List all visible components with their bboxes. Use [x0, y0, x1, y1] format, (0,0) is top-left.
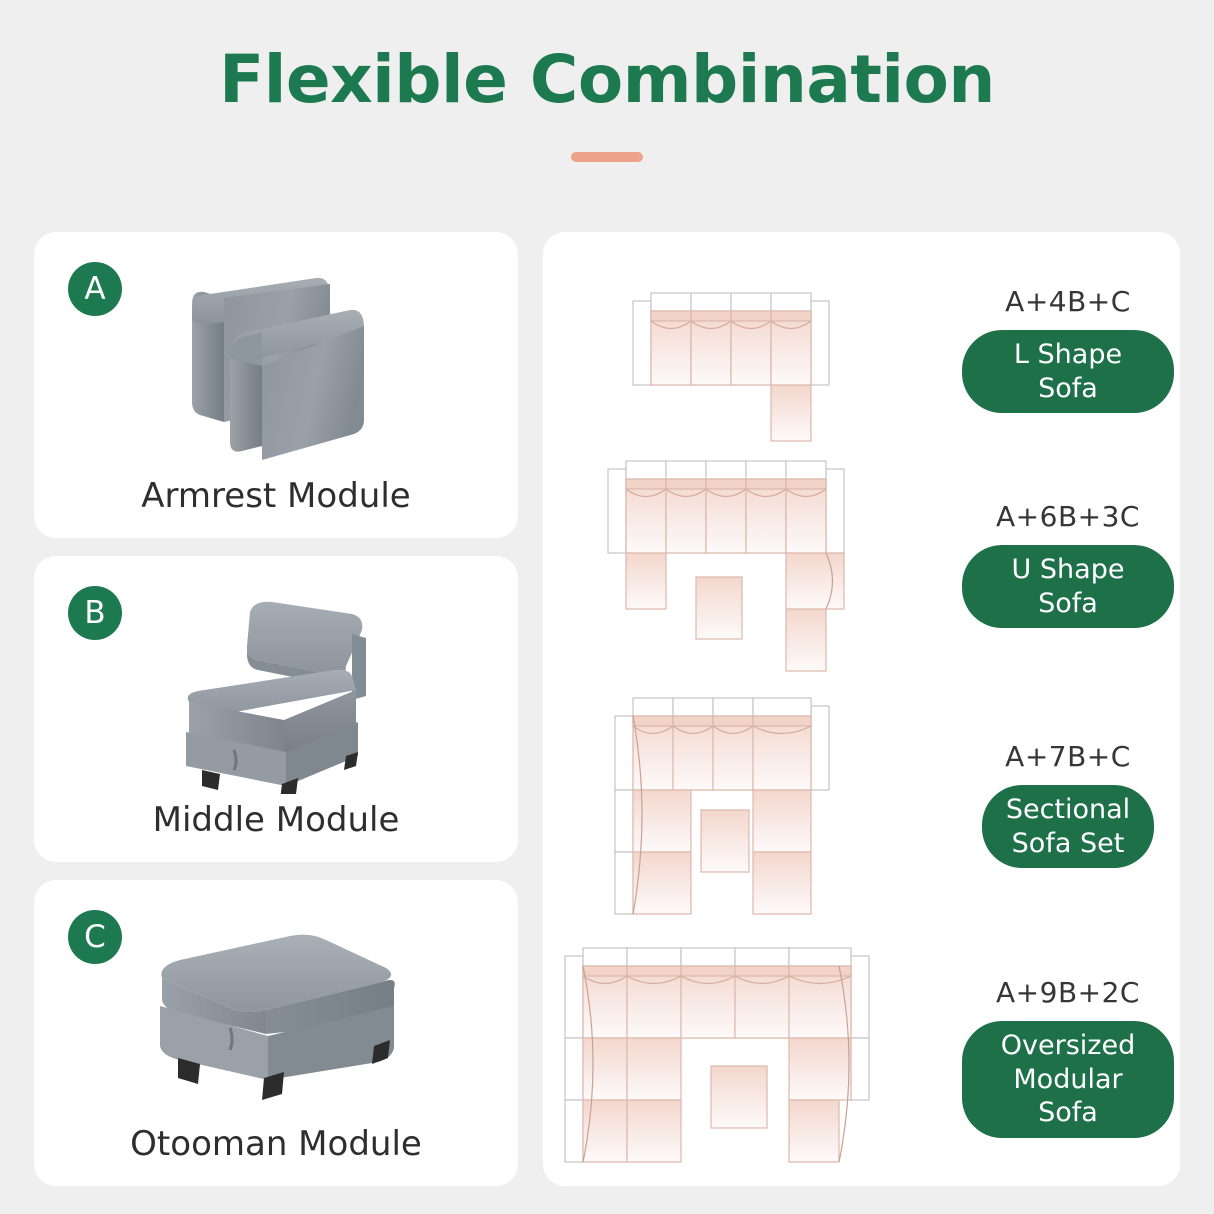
- combination-labels-u-shape: A+6B+3C U Shape Sofa: [962, 444, 1174, 684]
- oversized-layout: [553, 932, 963, 1182]
- combination-code: A+9B+2C: [996, 976, 1140, 1009]
- middle-module-photo: [34, 594, 518, 794]
- page-header: Flexible Combination: [0, 0, 1214, 200]
- ottoman-module-photo: [34, 918, 518, 1118]
- module-caption-ottoman: Otooman Module: [34, 1124, 518, 1164]
- combination-row-u-shape: A+6B+3C U Shape Sofa: [543, 444, 1180, 684]
- combination-name-badge[interactable]: Sectional Sofa Set: [982, 785, 1154, 869]
- page-title: Flexible Combination: [0, 44, 1214, 117]
- module-card-ottoman[interactable]: C: [34, 880, 518, 1186]
- combination-row-sectional: A+7B+C Sectional Sofa Set: [543, 684, 1180, 924]
- combination-code: A+7B+C: [1005, 740, 1131, 773]
- module-card-middle[interactable]: B: [34, 556, 518, 862]
- combination-name-badge[interactable]: Oversized Modular Sofa: [962, 1021, 1174, 1138]
- combination-code: A+6B+3C: [996, 500, 1140, 533]
- armrest-module-photo: [34, 270, 518, 470]
- sectional-layout: [553, 684, 963, 924]
- combination-labels-l-shape: A+4B+C L Shape Sofa: [962, 254, 1174, 444]
- title-underline-accent: [571, 152, 643, 162]
- combination-labels-oversized: A+9B+2C Oversized Modular Sofa: [962, 932, 1174, 1182]
- u-shape-layout: [553, 444, 963, 684]
- combination-row-l-shape: A+4B+C L Shape Sofa: [543, 254, 1180, 444]
- module-card-armrest[interactable]: A Armrest Module: [34, 232, 518, 538]
- l-shape-layout: [553, 254, 963, 444]
- module-caption-armrest: Armrest Module: [34, 476, 518, 516]
- combination-labels-sectional: A+7B+C Sectional Sofa Set: [962, 684, 1174, 924]
- combinations-panel: A+4B+C L Shape Sofa: [543, 232, 1180, 1186]
- module-caption-middle: Middle Module: [34, 800, 518, 840]
- combination-row-oversized: A+9B+2C Oversized Modular Sofa: [543, 932, 1180, 1182]
- combination-code: A+4B+C: [1005, 285, 1131, 318]
- combination-name-badge[interactable]: U Shape Sofa: [962, 545, 1174, 629]
- combination-name-badge[interactable]: L Shape Sofa: [962, 330, 1174, 414]
